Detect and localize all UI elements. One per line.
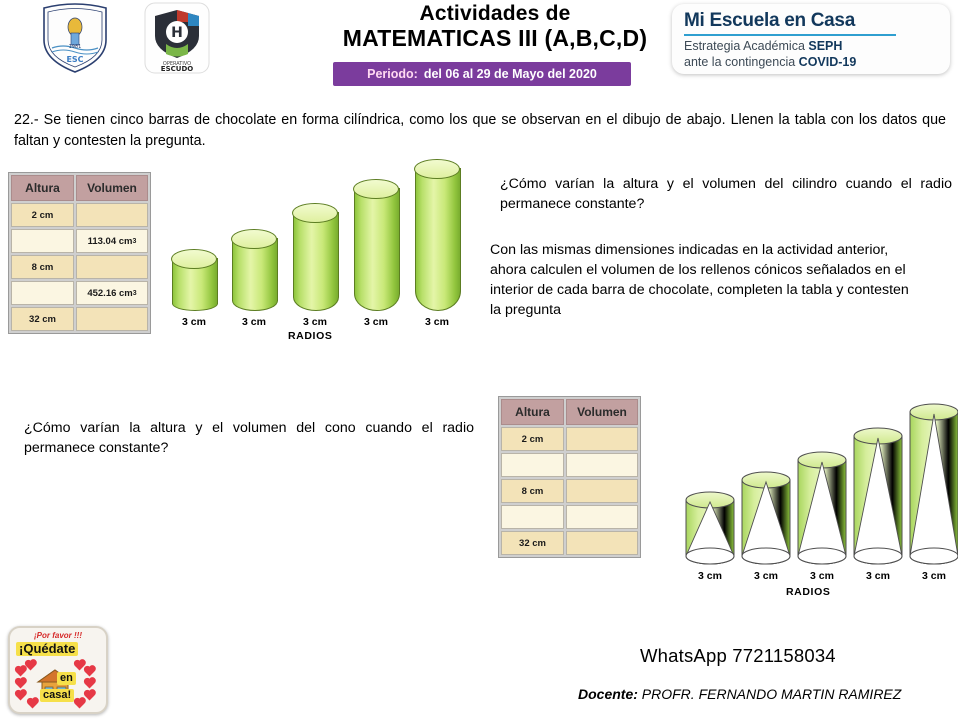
cylinder-label-1: 3 cm: [172, 316, 216, 328]
banner-title: Mi Escuela en Casa: [684, 10, 938, 32]
cylinder-top-ellipse: [171, 249, 217, 269]
school-crest-logo: 1981 ESC: [36, 2, 114, 74]
cylinder-label-3: 3 cm: [293, 316, 337, 328]
cell-altura[interactable]: [501, 505, 564, 529]
cone-label-1: 3 cm: [686, 570, 734, 582]
sticker-casa-text: casa!: [40, 689, 74, 702]
cylinder-body: [354, 188, 400, 311]
question-cylinder: ¿Cómo varían la altura y el volumen del …: [500, 174, 952, 214]
cone-cylinder-2: [742, 472, 790, 564]
escudo-line2: ESCUDO: [161, 65, 193, 73]
cylinder-top-ellipse: [292, 203, 338, 223]
heart-icon: [16, 667, 26, 677]
mi-escuela-en-casa-banner: Mi Escuela en Casa Estrategia Académica …: [672, 4, 950, 74]
column-header-volumen: Volumen: [76, 175, 148, 201]
page-title: Actividades de MATEMATICAS III (A,B,C,D): [300, 2, 690, 51]
cell-altura[interactable]: 8 cm: [11, 255, 74, 279]
page-title-line1: Actividades de: [300, 2, 690, 26]
operativo-escudo-badge: H OPERATIVO ESCUDO: [142, 2, 212, 74]
cell-altura[interactable]: 32 cm: [501, 531, 564, 555]
table-row: [501, 505, 638, 529]
cell-altura[interactable]: [11, 281, 74, 305]
table-header-row: Altura Volumen: [11, 175, 148, 201]
cone-label-3: 3 cm: [798, 570, 846, 582]
sticker-en-text: en: [57, 672, 76, 685]
table-row: 32 cm: [11, 307, 148, 331]
sticker-top-text: ¡Por favor !!!: [10, 631, 106, 640]
problem-statement: 22.- Se tienen cinco barras de chocolate…: [14, 110, 946, 153]
table-row: [501, 453, 638, 477]
column-header-volumen: Volumen: [566, 399, 638, 425]
cylinder-body: [415, 168, 461, 311]
cell-altura[interactable]: 32 cm: [11, 307, 74, 331]
cones-caption: RADIOS: [786, 586, 830, 598]
cell-volumen[interactable]: [566, 427, 638, 451]
heart-icon: [75, 699, 85, 709]
cone-cylinder-4: [854, 428, 902, 564]
table-row: 2 cm: [501, 427, 638, 451]
cone-label-4: 3 cm: [854, 570, 902, 582]
table-row: 8 cm: [501, 479, 638, 503]
docente-name: PROFR. FERNANDO MARTIN RAMIREZ: [642, 686, 902, 702]
cone-label-2: 3 cm: [742, 570, 790, 582]
cell-volumen[interactable]: [76, 203, 148, 227]
period-label: Periodo:: [367, 67, 418, 81]
heart-icon: [85, 667, 95, 677]
period-value: del 06 al 29 de Mayo del 2020: [424, 67, 597, 81]
heart-icon: [28, 699, 38, 709]
cell-volumen[interactable]: [566, 479, 638, 503]
escudo-monogram: H: [171, 25, 183, 41]
cell-volumen-value: 113.04 cm: [88, 236, 133, 247]
heart-icon: [16, 691, 26, 701]
cylinder-label-2: 3 cm: [232, 316, 276, 328]
cone-instructions: Con las mismas dimensiones indicadas en …: [490, 240, 920, 321]
cell-altura[interactable]: [501, 453, 564, 477]
banner-subtitle-line2: ante la contingencia COVID-19: [684, 55, 938, 71]
cell-volumen[interactable]: [566, 531, 638, 555]
banner-subtitle-line1: Estrategia Académica SEPH: [684, 39, 938, 55]
cone-volume-table: Altura Volumen 2 cm 8 cm 32 cm: [498, 396, 641, 558]
cell-volumen[interactable]: 113.04 cm3: [76, 229, 148, 253]
cell-volumen[interactable]: [566, 505, 638, 529]
cell-volumen[interactable]: 452.16 cm3: [76, 281, 148, 305]
cylinder-label-4: 3 cm: [354, 316, 398, 328]
cones-figure: 3 cm 3 cm 3 cm 3 cm 3 cm RADIOS: [668, 380, 958, 595]
column-header-altura: Altura: [11, 175, 74, 201]
table-header-row: Altura Volumen: [501, 399, 638, 425]
banner-divider: [684, 34, 896, 36]
cell-volumen[interactable]: [76, 307, 148, 331]
crest-monogram: ESC: [66, 55, 83, 64]
cylinder-2: [232, 238, 276, 310]
table-row: 8 cm: [11, 255, 148, 279]
page-title-line2: MATEMATICAS III (A,B,C,D): [300, 26, 690, 52]
cell-altura[interactable]: 2 cm: [11, 203, 74, 227]
cell-altura[interactable]: [11, 229, 74, 253]
cell-volumen[interactable]: [566, 453, 638, 477]
quedate-en-casa-sticker: ¡Por favor !!! ¡Quédate en casa!: [8, 626, 108, 714]
cell-altura[interactable]: 2 cm: [501, 427, 564, 451]
heart-icon: [85, 691, 95, 701]
table-row: 452.16 cm3: [11, 281, 148, 305]
crest-year: 1981: [69, 44, 82, 50]
cylinder-5: [415, 168, 459, 310]
cylinder-top-ellipse: [231, 229, 277, 249]
cylinder-volume-table: Altura Volumen 2 cm 113.04 cm3 8 cm 452.…: [8, 172, 151, 334]
table-row: 2 cm: [11, 203, 148, 227]
cylinder-label-5: 3 cm: [415, 316, 459, 328]
cylinder-3: [293, 212, 337, 310]
cell-volumen-exp: 3: [133, 290, 137, 297]
banner-sub1-plain: Estrategia Académica: [684, 39, 808, 53]
column-header-altura: Altura: [501, 399, 564, 425]
banner-sub1-bold: SEPH: [808, 39, 842, 53]
banner-sub2-bold: COVID-19: [799, 55, 857, 69]
cell-altura[interactable]: 8 cm: [501, 479, 564, 503]
cones-svg: [668, 380, 958, 595]
cone-label-5: 3 cm: [910, 570, 958, 582]
period-badge: Periodo: del 06 al 29 de Mayo del 2020: [333, 62, 631, 86]
cone-cylinder-5: [910, 404, 958, 564]
cone-cylinder-3: [798, 452, 846, 564]
banner-sub2-plain: ante la contingencia: [684, 55, 799, 69]
cylinder-1: [172, 258, 216, 310]
cylinder-top-ellipse: [353, 179, 399, 199]
docente-line: Docente: PROFR. FERNANDO MARTIN RAMIREZ: [578, 686, 901, 702]
table-row: 113.04 cm3: [11, 229, 148, 253]
cylinders-figure: 3 cm 3 cm 3 cm 3 cm 3 cm RADIOS: [160, 150, 490, 340]
cell-volumen[interactable]: [76, 255, 148, 279]
cylinders-caption: RADIOS: [288, 330, 332, 342]
table-row: 32 cm: [501, 531, 638, 555]
sticker-main-text: ¡Quédate: [16, 642, 78, 656]
cell-volumen-value: 452.16 cm: [87, 288, 132, 299]
cell-volumen-exp: 3: [133, 238, 137, 245]
question-cone: ¿Cómo varían la altura y el volumen del …: [24, 418, 474, 458]
heart-icon: [16, 679, 26, 689]
docente-label: Docente:: [578, 686, 638, 702]
cylinder-body: [293, 212, 339, 311]
cone-cylinder-1: [686, 492, 734, 564]
cylinder-top-ellipse: [414, 159, 460, 179]
heart-icon: [85, 679, 95, 689]
cylinder-4: [354, 188, 398, 310]
whatsapp-contact: WhatsApp 7721158034: [640, 645, 836, 667]
